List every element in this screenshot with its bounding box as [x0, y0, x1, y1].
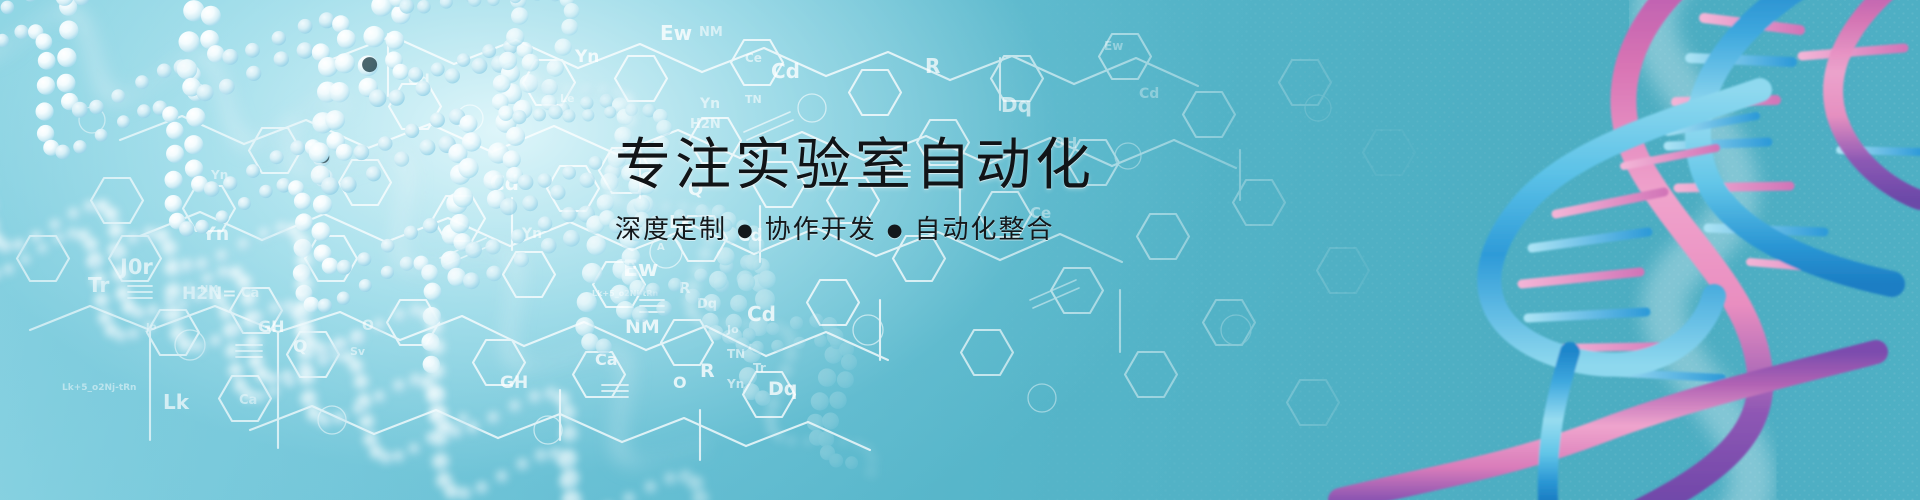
page-title: 专注实验室自动化: [615, 138, 1095, 194]
subtitle-item-3: 自动化整合: [914, 215, 1054, 245]
subtitle-separator-1: ●: [727, 220, 765, 241]
hero-banner: YnEwCdNMRCdLeYnH2NDqTNCdQOHCeCdYnLkCdEwR…: [0, 0, 1920, 500]
dna-base-pair-rung: [1532, 232, 1648, 248]
dna-double-helix-right: [0, 0, 1920, 500]
subtitle-separator-2: ●: [877, 220, 915, 241]
dna-base-pair-rung: [1556, 192, 1664, 214]
dna-base-pair-rung: [1528, 312, 1646, 318]
subtitle-item-1: 深度定制: [615, 215, 727, 245]
dna-base-pair-rung: [1522, 272, 1640, 284]
banner-text-block: 专注实验室自动化 深度定制●协作开发●自动化整合: [615, 138, 1095, 243]
dna-base-pair-rung: [1678, 186, 1790, 188]
dna-base-pair-rung: [1690, 58, 1792, 62]
banner-subtitle: 深度定制●协作开发●自动化整合: [615, 217, 1095, 243]
subtitle-item-2: 协作开发: [765, 215, 877, 245]
